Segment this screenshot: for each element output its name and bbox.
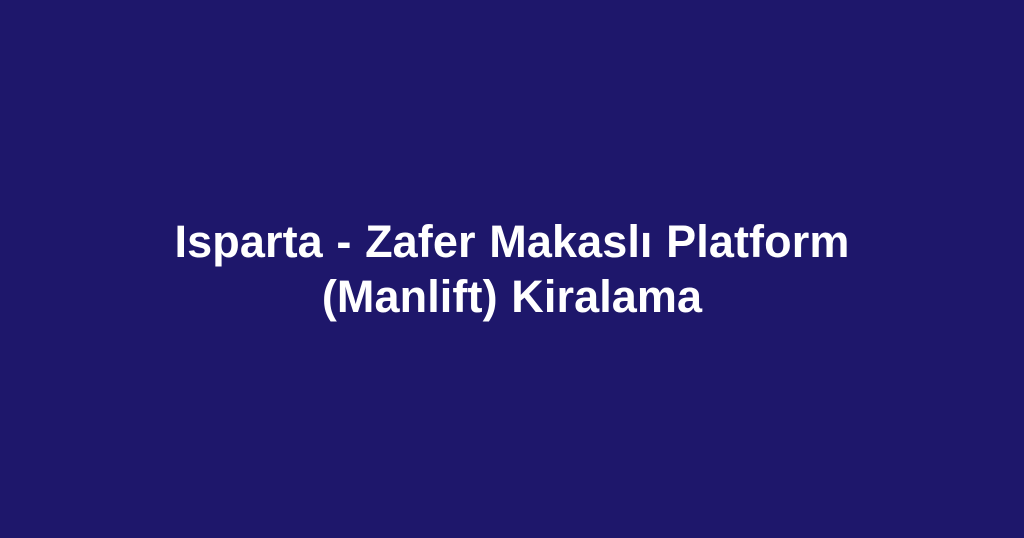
page-title: Isparta - Zafer Makaslı Platform (Manlif… bbox=[132, 214, 892, 324]
title-banner: Isparta - Zafer Makaslı Platform (Manlif… bbox=[0, 0, 1024, 538]
banner-content: Isparta - Zafer Makaslı Platform (Manlif… bbox=[132, 214, 892, 324]
